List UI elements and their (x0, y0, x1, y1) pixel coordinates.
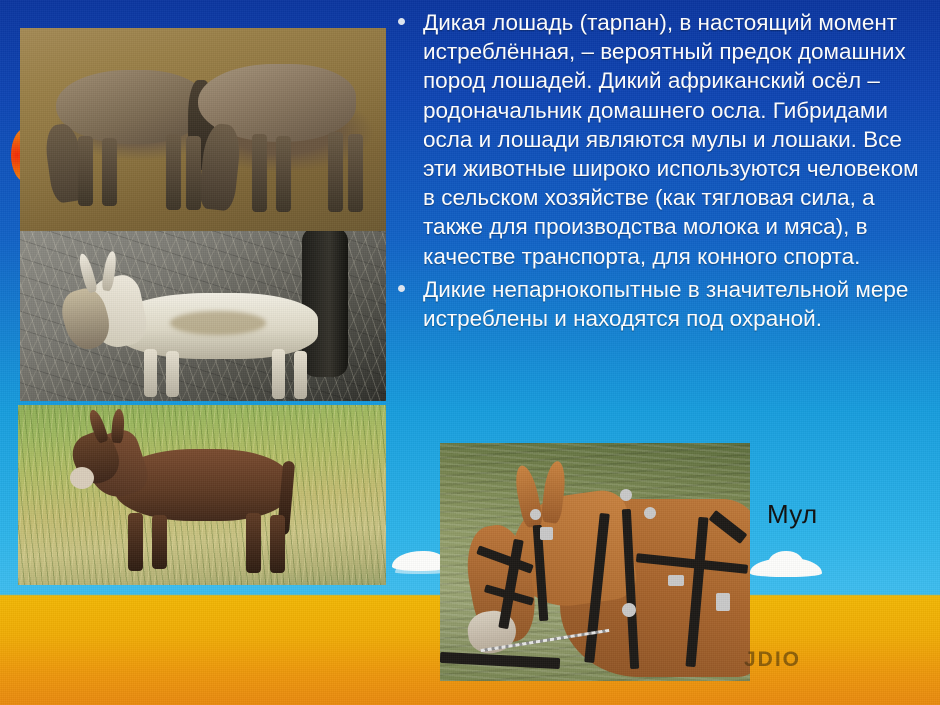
horse-body (56, 70, 206, 144)
cloud-icon-right (750, 558, 822, 577)
caption-mule: Мул (767, 499, 817, 530)
bullet-item: Дикая лошадь (тарпан), в настоящий момен… (398, 8, 920, 271)
bullet-text-1: Дикая лошадь (тарпан), в настоящий момен… (423, 8, 920, 271)
horse-leg (102, 138, 117, 206)
photo-donkey (18, 405, 386, 585)
harness-buckle (622, 603, 636, 617)
ass-leg (272, 349, 285, 399)
ass-leg (144, 349, 157, 397)
donkey-leg (270, 515, 285, 573)
horse-leg (276, 136, 291, 212)
horse-leg (166, 134, 181, 210)
ass-leg (294, 351, 307, 399)
harness-buckle (540, 527, 553, 540)
bullet-item: Дикие непарнокопытные в значительной мер… (398, 275, 920, 333)
harness-buckle (620, 489, 632, 501)
donkey-muzzle (70, 467, 94, 489)
harness-buckle (716, 593, 730, 611)
horse-leg (348, 134, 363, 212)
horse-leg (78, 136, 93, 206)
ass-marking (170, 311, 266, 335)
bullet-text-2: Дикие непарнокопытные в значительной мер… (423, 275, 920, 333)
harness-buckle (668, 575, 684, 586)
tree-trunk (302, 231, 348, 377)
donkey-leg (152, 515, 167, 569)
donkey-leg (246, 513, 261, 573)
bullet-point-icon (398, 285, 405, 292)
photo-african-wild-ass (20, 231, 386, 401)
harness-buckle (644, 507, 656, 519)
presentation-slide: Дикая лошадь (тарпан), в настоящий момен… (0, 0, 940, 705)
donkey-leg (128, 513, 143, 571)
ass-leg (166, 351, 179, 397)
slide-body-text: Дикая лошадь (тарпан), в настоящий момен… (398, 8, 920, 337)
photo-wild-horses (20, 28, 386, 231)
watermark-text: JDIO (744, 648, 801, 672)
horse-leg (186, 136, 201, 210)
horse-leg (252, 134, 267, 212)
photo-mule (440, 443, 750, 681)
harness-buckle (530, 509, 541, 520)
horse-leg (328, 132, 343, 212)
bullet-point-icon (398, 18, 405, 25)
